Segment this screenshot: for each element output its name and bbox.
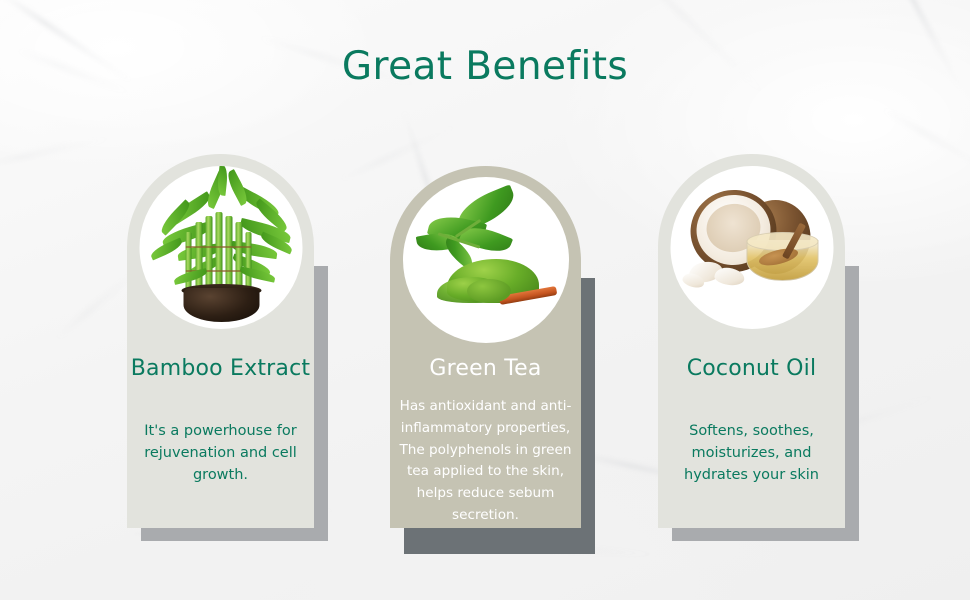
card-title: Green Tea: [390, 356, 581, 381]
card-body-text: It's a powerhouse for rejuvenation and c…: [133, 420, 308, 486]
benefit-card-coconut-oil[interactable]: Coconut Oil Softens, soothes, moisturize…: [658, 154, 845, 528]
card-body-text: Has antioxidant and anti-inflammatory pr…: [396, 396, 575, 527]
coconut-oil-photo: [670, 166, 833, 329]
card-title: Coconut Oil: [658, 356, 845, 381]
benefit-card-list: Bamboo Extract It's a powerhouse for rej…: [0, 0, 970, 600]
card-body-text: Softens, soothes, moisturizes, and hydra…: [664, 420, 839, 486]
benefit-card-green-tea[interactable]: Green Tea Has antioxidant and anti-infla…: [390, 166, 581, 528]
green-tea-illustration: [403, 177, 569, 343]
card-surface: Coconut Oil Softens, soothes, moisturize…: [658, 154, 845, 528]
benefits-infographic: Great Benefits: [0, 0, 970, 600]
bamboo-plant-photo: [139, 166, 302, 329]
benefit-card-bamboo-extract[interactable]: Bamboo Extract It's a powerhouse for rej…: [127, 154, 314, 528]
coconut-illustration: [670, 166, 833, 329]
green-tea-powder-photo: [403, 177, 569, 343]
card-surface: Green Tea Has antioxidant and anti-infla…: [390, 166, 581, 528]
bamboo-illustration: [139, 166, 302, 329]
card-title: Bamboo Extract: [127, 356, 314, 381]
card-surface: Bamboo Extract It's a powerhouse for rej…: [127, 154, 314, 528]
